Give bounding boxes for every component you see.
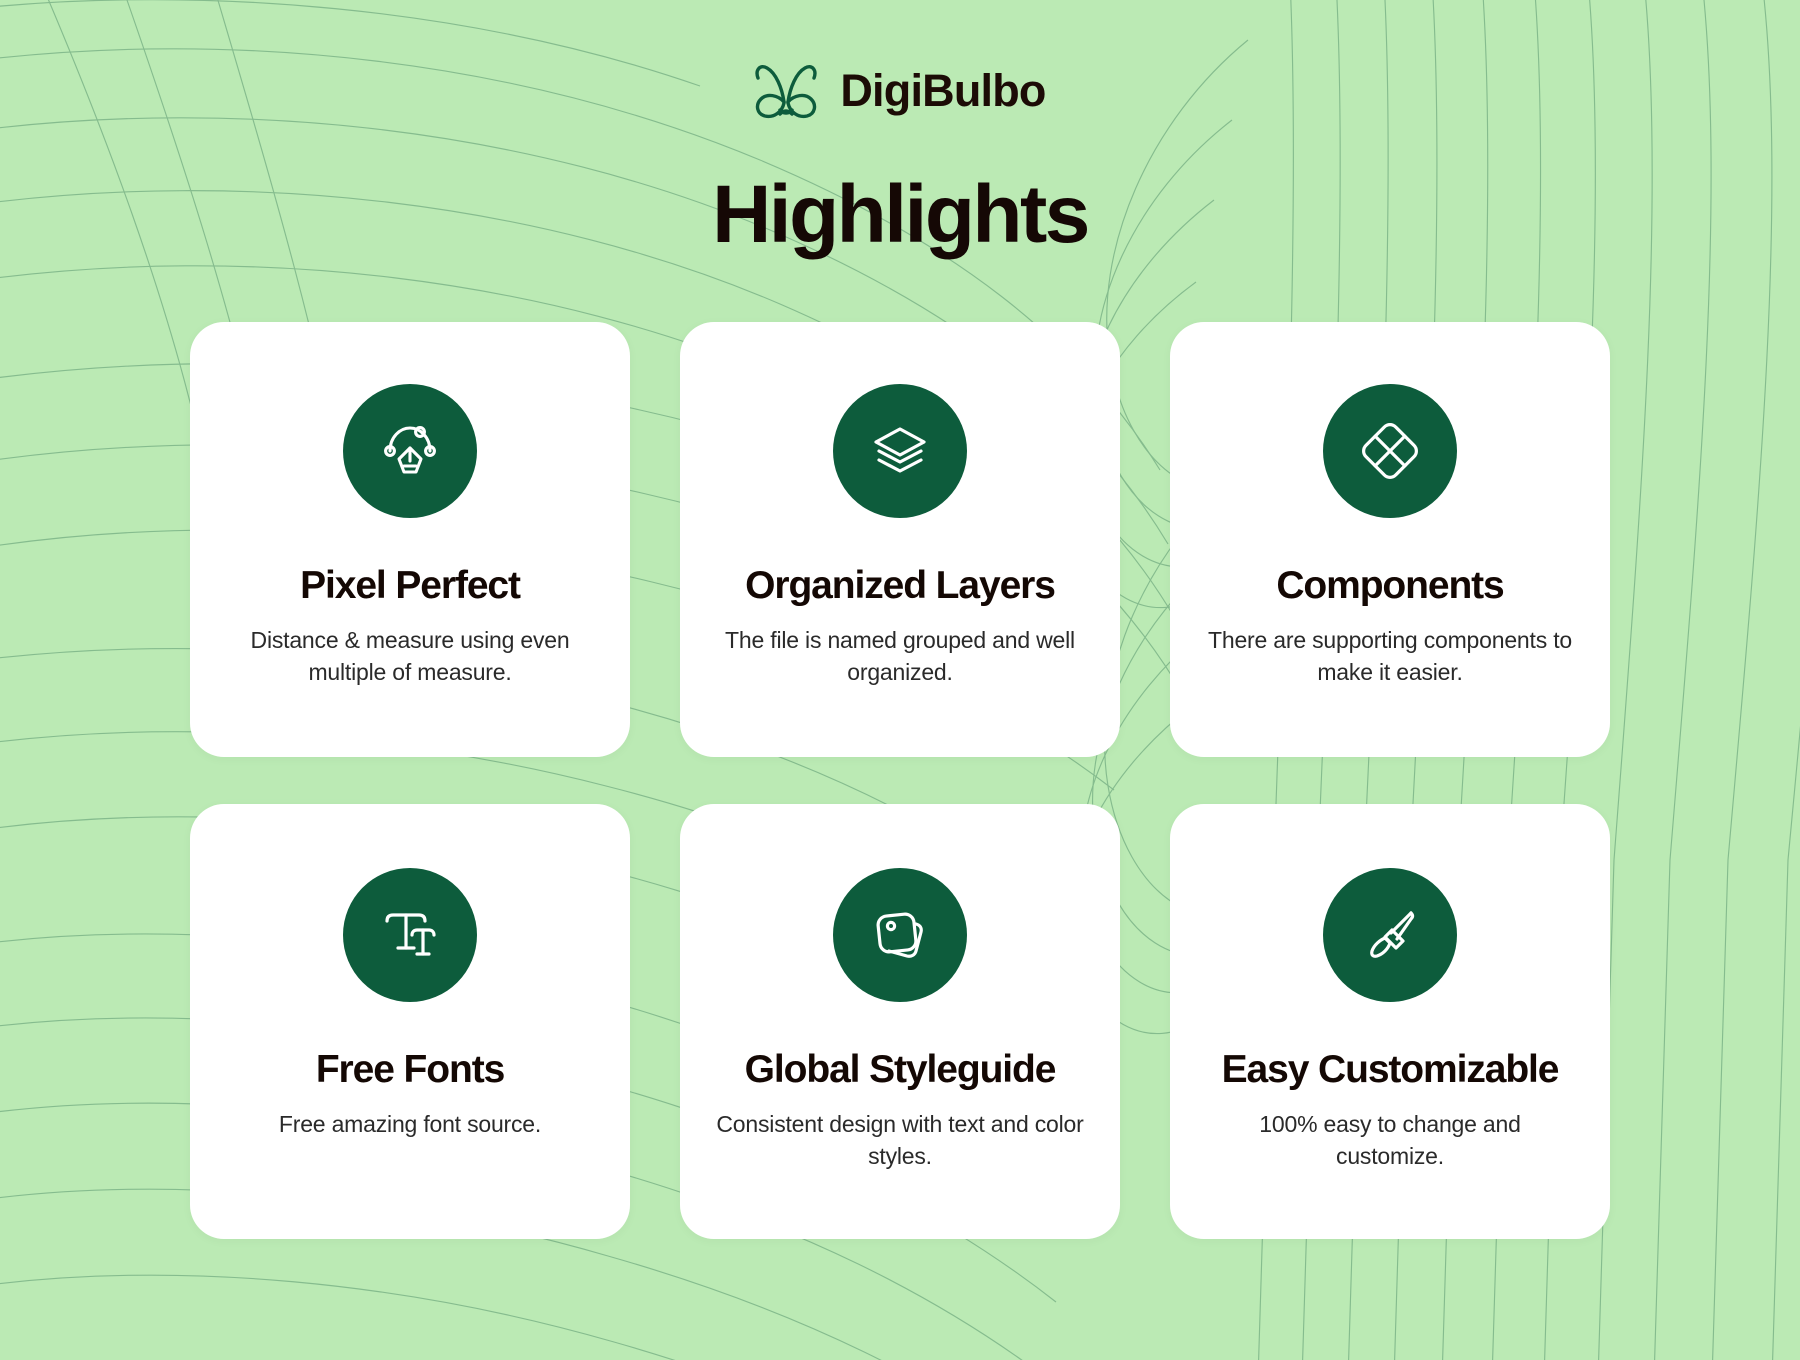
card-title: Components <box>1276 566 1503 607</box>
styleguide-swatch-icon <box>833 868 967 1002</box>
brand-name: DigiBulbo <box>840 68 1045 113</box>
highlight-card-free-fonts[interactable]: Free Fonts Free amazing font source. <box>190 804 630 1239</box>
typography-icon <box>343 868 477 1002</box>
page-title: Highlights <box>712 174 1088 256</box>
layers-icon <box>833 384 967 518</box>
highlights-grid: Pixel Perfect Distance & measure using e… <box>190 322 1610 1239</box>
card-description: There are supporting components to make … <box>1204 625 1576 688</box>
card-title: Organized Layers <box>745 566 1055 607</box>
card-description: Free amazing font source. <box>279 1109 541 1141</box>
components-icon <box>1323 384 1457 518</box>
card-description: 100% easy to change and customize. <box>1204 1109 1576 1172</box>
card-description: Distance & measure using even multiple o… <box>224 625 596 688</box>
highlight-card-organized-layers[interactable]: Organized Layers The file is named group… <box>680 322 1120 757</box>
highlight-card-global-styleguide[interactable]: Global Styleguide Consistent design with… <box>680 804 1120 1239</box>
digibulbo-butterfly-mark-icon <box>754 61 818 119</box>
paintbrush-icon <box>1323 868 1457 1002</box>
card-description: Consistent design with text and color st… <box>714 1109 1086 1172</box>
card-description: The file is named grouped and well organ… <box>714 625 1086 688</box>
highlight-card-easy-customizable[interactable]: Easy Customizable 100% easy to change an… <box>1170 804 1610 1239</box>
brand-logo[interactable]: DigiBulbo <box>754 58 1045 122</box>
card-title: Global Styleguide <box>745 1050 1056 1091</box>
card-title: Pixel Perfect <box>300 566 520 607</box>
pen-tool-icon <box>343 384 477 518</box>
card-title: Easy Customizable <box>1222 1050 1559 1091</box>
highlight-card-components[interactable]: Components There are supporting componen… <box>1170 322 1610 757</box>
card-title: Free Fonts <box>316 1050 504 1091</box>
highlight-card-pixel-perfect[interactable]: Pixel Perfect Distance & measure using e… <box>190 322 630 757</box>
